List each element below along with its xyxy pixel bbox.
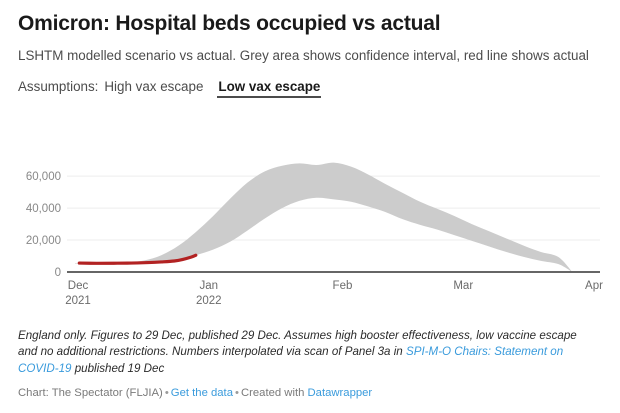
datawrapper-link[interactable]: Datawrapper xyxy=(308,387,373,399)
chart-header: Omicron: Hospital beds occupied vs actua… xyxy=(0,0,620,98)
credit-separator-1: • xyxy=(163,387,171,399)
chart-canvas: 020,00040,00060,000 Dec2021Jan2022FebMar… xyxy=(0,135,620,310)
footnote-text-part2: published 19 Dec xyxy=(71,362,164,375)
x-axis-tick-month: Mar xyxy=(453,280,473,292)
confidence-band-path xyxy=(75,163,571,272)
assumptions-toggle: Assumptions: High vax escape Low vax esc… xyxy=(18,79,602,98)
toggle-option-low-vax-escape[interactable]: Low vax escape xyxy=(217,79,321,98)
chart-subtitle: LSHTM modelled scenario vs actual. Grey … xyxy=(18,47,598,65)
get-the-data-link[interactable]: Get the data xyxy=(171,387,233,399)
x-axis-tick-month: Feb xyxy=(333,280,353,292)
y-axis-tick-label: 40,000 xyxy=(26,203,61,215)
confidence-band xyxy=(75,163,571,272)
x-axis-tick-year: 2022 xyxy=(196,295,222,307)
x-axis-tick-month: Jan xyxy=(199,280,218,292)
page-title: Omicron: Hospital beds occupied vs actua… xyxy=(18,12,602,36)
y-axis-tick-label: 20,000 xyxy=(26,235,61,247)
y-axis-tick-label: 0 xyxy=(55,267,61,279)
credit-source: Chart: The Spectator (FLJIA) xyxy=(18,387,163,399)
assumptions-label: Assumptions: xyxy=(18,79,98,94)
plot-area: 020,00040,00060,000 Dec2021Jan2022FebMar… xyxy=(0,135,620,310)
footnote: England only. Figures to 29 Dec, publish… xyxy=(18,328,596,377)
toggle-option-high-vax-escape[interactable]: High vax escape xyxy=(103,79,204,94)
datawrapper-chart: Omicron: Hospital beds occupied vs actua… xyxy=(0,0,620,413)
x-axis-labels: Dec2021Jan2022FebMarApr xyxy=(65,280,603,307)
x-axis-tick-month: Dec xyxy=(68,280,89,292)
credit-separator-2: • xyxy=(233,387,241,399)
y-axis-tick-label: 60,000 xyxy=(26,171,61,183)
y-axis-labels: 020,00040,00060,000 xyxy=(26,171,61,279)
x-axis-tick-year: 2021 xyxy=(65,295,91,307)
chart-footer: England only. Figures to 29 Dec, publish… xyxy=(18,328,608,401)
credit-created-with: Created with xyxy=(241,387,304,399)
credit-line: Chart: The Spectator (FLJIA)•Get the dat… xyxy=(18,386,608,401)
x-axis-tick-month: Apr xyxy=(585,280,603,292)
